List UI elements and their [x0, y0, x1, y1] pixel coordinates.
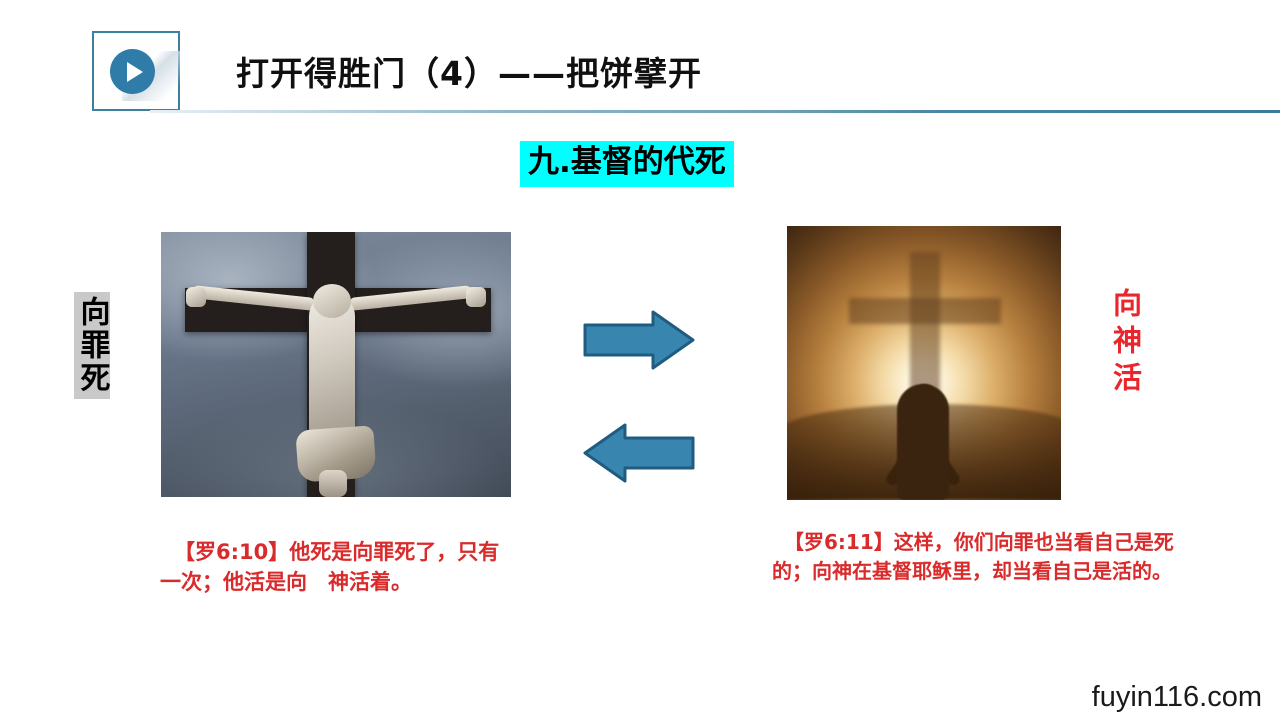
arrow-left-icon [583, 422, 695, 489]
site-watermark: fuyin116.com [1092, 681, 1262, 714]
frame-bracket-right [156, 31, 180, 111]
slide-canvas: 打开得胜门（4）——把饼擘开 九.基督的代死 向罪死 [0, 0, 1280, 720]
figure-hand-left [186, 287, 206, 307]
christ-figure [161, 232, 511, 497]
figure-arm-left [191, 285, 316, 311]
right-vertical-label: 向神活 [1110, 288, 1140, 399]
left-vertical-label: 向罪死 [74, 292, 110, 399]
header-divider [150, 110, 1280, 113]
cross-arm [849, 298, 1001, 324]
figure-head [313, 284, 351, 318]
crucifixion-image [161, 232, 511, 497]
section-heading: 九.基督的代死 [520, 141, 734, 187]
play-circle-icon[interactable] [110, 49, 155, 94]
figure-legs [319, 470, 347, 497]
play-triangle-icon [127, 62, 143, 82]
arrow-right-icon [583, 309, 695, 376]
page-title: 打开得胜门（4）——把饼擘开 [236, 47, 702, 95]
worshipper-head [913, 384, 937, 410]
logo-frame [92, 31, 180, 111]
figure-arm-right [348, 285, 473, 311]
right-scripture-caption: 【罗6:11】这样，你们向罪也当看自己是死的；向神在基督耶稣里，却当看自己是活的… [772, 528, 1188, 586]
figure-hand-right [466, 287, 486, 307]
worship-silhouette-image [787, 226, 1061, 500]
frame-bracket-top [116, 31, 156, 33]
left-scripture-caption: 【罗6:10】他死是向罪死了，只有一次；他活是向 神活着。 [160, 538, 512, 598]
